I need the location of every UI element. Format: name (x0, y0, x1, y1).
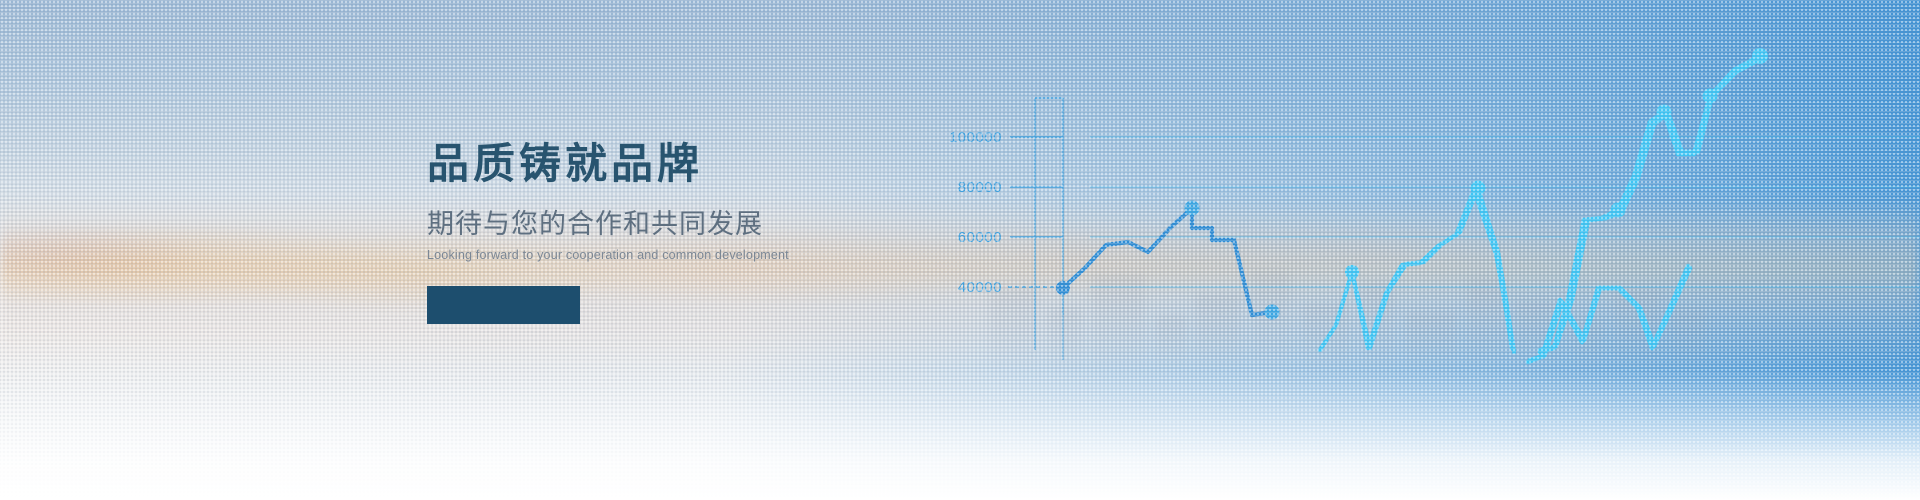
page-title: 品质铸就品牌 (427, 140, 847, 187)
data-point (1056, 281, 1070, 295)
grid-lines (1090, 137, 1920, 287)
hero-copy-block: 品质铸就品牌 期待与您的合作和共同发展 Looking forward to y… (427, 140, 847, 324)
y-tick-label: 40000 (958, 279, 1002, 296)
data-point (1265, 305, 1280, 320)
y-axis (1008, 98, 1063, 360)
chart-series-2 (1320, 181, 1514, 353)
data-point (1657, 105, 1672, 120)
page-subtitle-en: Looking forward to your cooperation and … (427, 248, 847, 262)
data-point (1345, 265, 1359, 279)
cta-button[interactable] (427, 286, 580, 324)
data-point (1611, 203, 1626, 218)
chart-series-1 (1056, 201, 1280, 320)
y-axis-tick-labels: 100000 80000 60000 40000 (949, 129, 1002, 296)
data-point (1471, 181, 1486, 196)
data-point (1185, 201, 1200, 216)
chart-series-3 (1540, 48, 1768, 352)
data-point (1703, 89, 1718, 104)
y-tick-label: 80000 (958, 179, 1002, 196)
y-tick-label: 60000 (958, 229, 1002, 246)
hero-banner: 100000 80000 60000 40000 (0, 0, 1920, 500)
y-tick-label: 100000 (949, 129, 1002, 146)
page-subtitle: 期待与您的合作和共同发展 (427, 209, 847, 240)
data-point (1752, 48, 1768, 64)
line-chart: 100000 80000 60000 40000 (900, 60, 1920, 390)
